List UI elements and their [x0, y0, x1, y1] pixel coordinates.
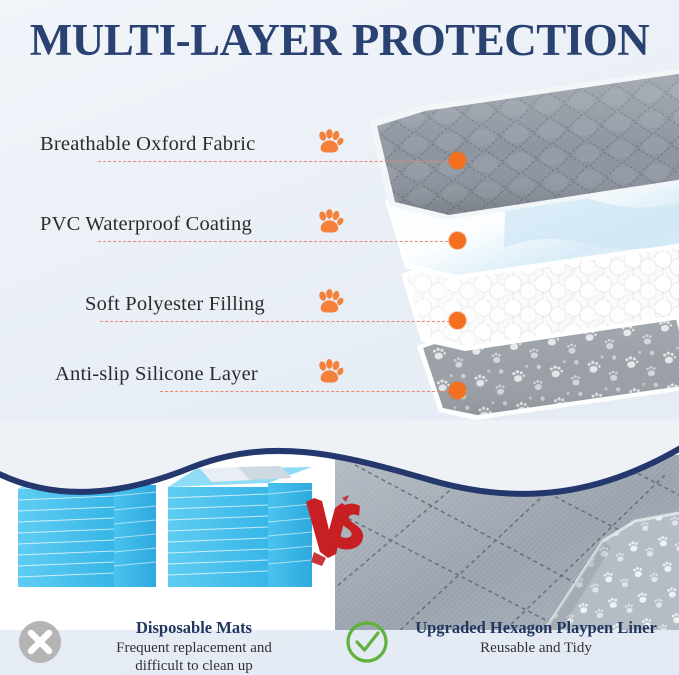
layer-row-silicone: Anti-slip Silicone Layer: [55, 348, 475, 394]
caption-subtitle-line1: Reusable and Tidy: [397, 639, 675, 657]
layer-row-filling: Soft Polyester Filling: [85, 278, 475, 324]
caption-subtitle-disposable: Frequent replacement and difficult to cl…: [70, 639, 318, 675]
x-circle-icon: [18, 620, 62, 664]
infographic-page: MULTI-LAYER PROTECTION: [0, 0, 679, 675]
caption-subtitle-line2: difficult to clean up: [70, 657, 318, 675]
connector-dot-silicone: [449, 382, 466, 399]
paw-icon: [315, 208, 345, 238]
layer-row-oxford: Breathable Oxford Fabric: [40, 118, 470, 164]
layer-label-oxford: Breathable Oxford Fabric: [40, 133, 255, 156]
wave-divider: [0, 420, 679, 500]
connector-line-pvc: [98, 241, 453, 242]
caption-subtitle-line1: Frequent replacement and: [70, 639, 318, 657]
connector-dot-filling: [449, 312, 466, 329]
paw-icon: [315, 358, 345, 388]
check-circle-icon: [345, 620, 389, 664]
layer-row-pvc: PVC Waterproof Coating: [40, 198, 470, 244]
connector-dot-oxford: [449, 152, 466, 169]
vs-glyph: [306, 495, 363, 566]
vs-badge: [302, 492, 372, 572]
connector-line-silicone: [160, 391, 455, 392]
connector-line-filling: [100, 321, 455, 322]
caption-title-disposable: Disposable Mats: [70, 618, 318, 639]
page-title: MULTI-LAYER PROTECTION: [0, 14, 679, 66]
layer-label-pvc: PVC Waterproof Coating: [40, 213, 252, 236]
paw-icon: [315, 128, 345, 158]
connector-dot-pvc: [449, 232, 466, 249]
connector-line-oxford: [98, 161, 453, 162]
paw-icon: [315, 288, 345, 318]
layer-label-filling: Soft Polyester Filling: [85, 293, 265, 316]
caption-title-liner: Upgraded Hexagon Playpen Liner: [397, 618, 675, 639]
caption-subtitle-liner: Reusable and Tidy: [397, 639, 675, 657]
layer-label-silicone: Anti-slip Silicone Layer: [55, 363, 258, 386]
